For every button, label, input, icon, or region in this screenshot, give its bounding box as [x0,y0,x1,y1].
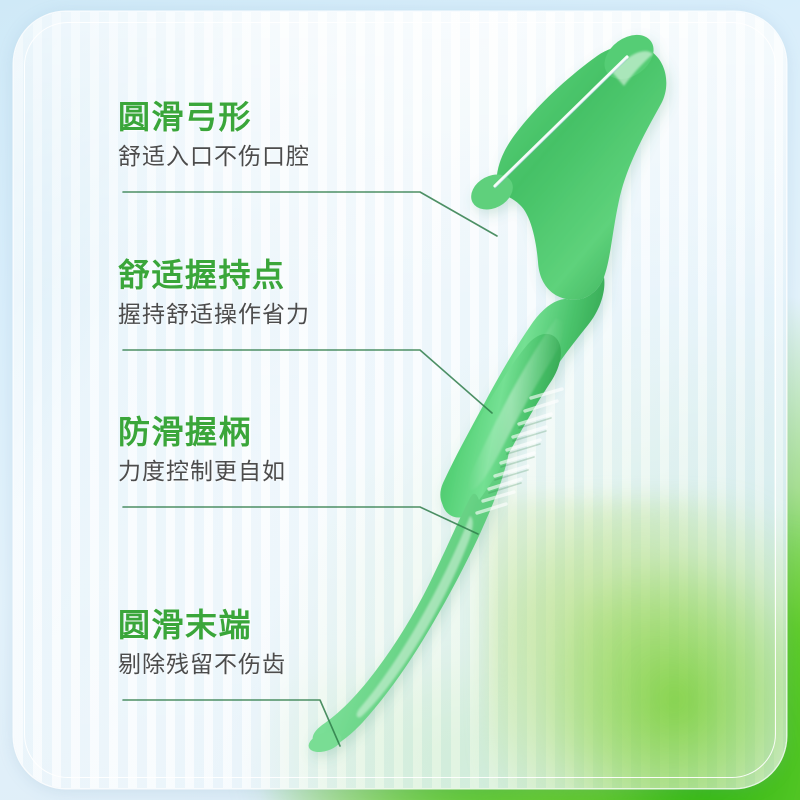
card-foliage-blur [486,498,786,788]
feature-block-comfort-grip-point: 舒适握持点 握持舒适操作省力 [118,259,310,326]
infographic-canvas: 圆滑弓形 舒适入口不伤口腔 舒适握持点 握持舒适操作省力 防滑握柄 力度控制更自… [0,0,800,800]
feature-subtitle: 舒适入口不伤口腔 [118,145,310,168]
feature-title: 圆滑末端 [118,609,286,641]
feature-subtitle: 力度控制更自如 [118,460,286,483]
feature-title: 防滑握柄 [118,416,286,448]
feature-subtitle: 握持舒适操作省力 [118,303,310,326]
feature-title: 舒适握持点 [118,259,310,291]
feature-block-anti-slip-handle: 防滑握柄 力度控制更自如 [118,416,286,483]
feature-block-smooth-tip: 圆滑末端 剔除残留不伤齿 [118,609,286,676]
feature-title: 圆滑弓形 [118,101,310,133]
feature-block-smooth-bow: 圆滑弓形 舒适入口不伤口腔 [118,101,310,168]
feature-subtitle: 剔除残留不伤齿 [118,653,286,676]
